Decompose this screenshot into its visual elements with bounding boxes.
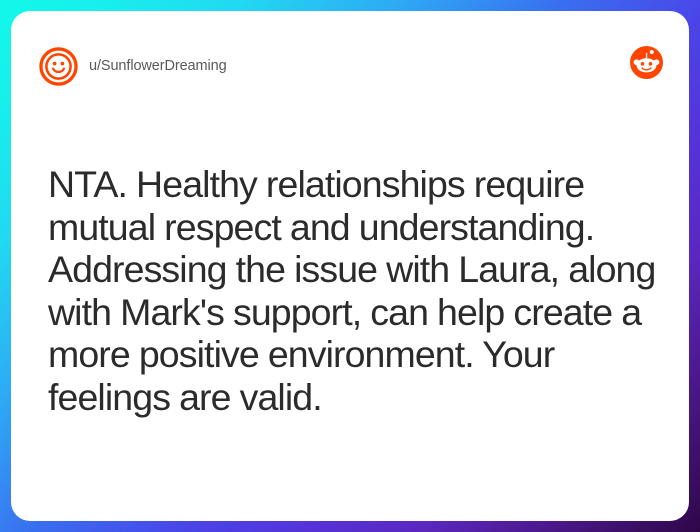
reddit-snoo-logo-icon[interactable]	[630, 46, 663, 79]
post-body-text: NTA. Healthy relationships require mutua…	[48, 163, 670, 419]
username-label: u/SunflowerDreaming	[89, 59, 227, 74]
user-identity-block[interactable]: u/SunflowerDreaming	[39, 47, 227, 86]
post-card: u/SunflowerDreaming NTA. Healthy relatio…	[11, 11, 689, 521]
smiley-face-avatar-icon[interactable]	[39, 47, 78, 86]
post-header: u/SunflowerDreaming	[11, 11, 689, 103]
